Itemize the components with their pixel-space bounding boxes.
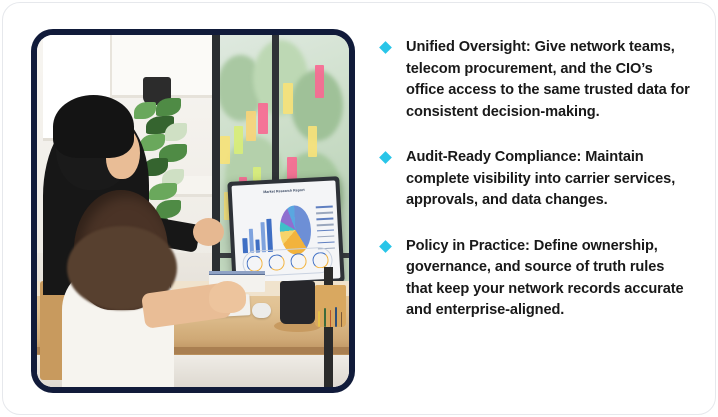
diamond-bullet-icon (379, 41, 392, 54)
coffee-mug (280, 281, 314, 323)
dashboard-legend (317, 206, 336, 250)
diamond-bullet-icon (379, 240, 392, 253)
list-item-text: Policy in Practice: Define ownership, go… (406, 236, 691, 322)
dashboard-bar-chart (242, 213, 273, 254)
photo-frame: Market Research Report (31, 29, 355, 393)
list-item-text: Audit-Ready Compliance: Maintain complet… (406, 147, 691, 212)
office-photo: Market Research Report (37, 35, 349, 387)
pencil-cup (315, 285, 346, 327)
kpi-gauge (269, 254, 286, 271)
person-standing-hair (53, 95, 134, 158)
sticky-note (246, 111, 256, 141)
window-frame-edge (212, 35, 220, 288)
kpi-gauge (291, 253, 308, 270)
person-seated-hand (209, 281, 246, 313)
sticky-note (220, 136, 230, 164)
dashboard-title: Market Research Report (264, 188, 306, 194)
sticky-note (283, 83, 293, 113)
mouse (252, 303, 271, 319)
list-item-text: Unified Oversight: Give network teams, t… (406, 37, 691, 123)
sticky-note (234, 126, 244, 154)
sticky-note (258, 103, 268, 133)
list-item: Audit-Ready Compliance: Maintain complet… (381, 147, 691, 212)
sticky-note (315, 65, 325, 98)
diamond-bullet-icon (379, 151, 392, 164)
benefits-list: Unified Oversight: Give network teams, t… (381, 37, 691, 322)
content-card: Market Research Report (2, 2, 716, 415)
list-item: Unified Oversight: Give network teams, t… (381, 37, 691, 123)
list-item: Policy in Practice: Define ownership, go… (381, 236, 691, 322)
sticky-note (308, 126, 318, 156)
